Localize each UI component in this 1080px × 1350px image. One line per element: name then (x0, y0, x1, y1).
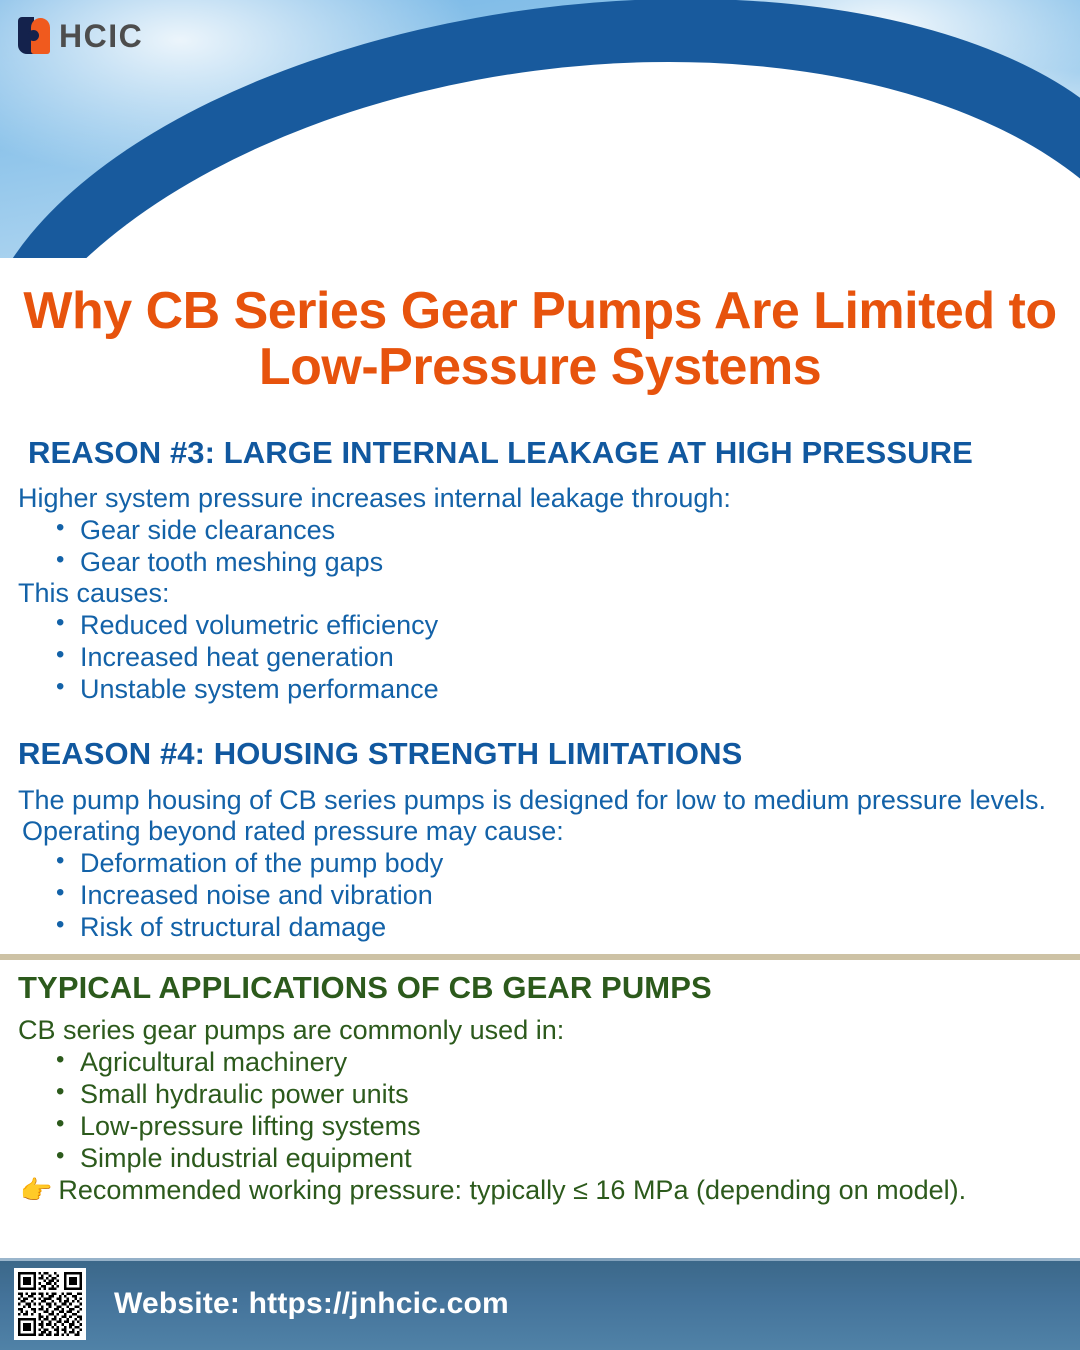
reason-4-bullet-list: Deformation of the pump body Increased n… (18, 848, 1062, 944)
website-label[interactable]: Website: https://jnhcic.com (114, 1287, 509, 1321)
list-item: Unstable system performance (54, 674, 1062, 706)
hero-banner: HCIC 華辰重工 HCIC (0, 0, 1080, 268)
section-reason-3: REASON #3: LARGE INTERNAL LEAKAGE AT HIG… (18, 435, 1062, 706)
reason-3-bullet-list-1: Gear side clearances Gear tooth meshing … (18, 515, 1062, 579)
recommended-pressure-text: Recommended working pressure: typically … (58, 1175, 966, 1207)
content-body: REASON #3: LARGE INTERNAL LEAKAGE AT HIG… (0, 435, 1080, 1206)
list-item: Low-pressure lifting systems (54, 1111, 1062, 1143)
brand-logo-wordmark: HCIC (59, 20, 143, 52)
list-item: Gear side clearances (54, 515, 1062, 547)
reason-3-lead-text-2: This causes: (18, 578, 1062, 610)
section-heading-typical-applications: TYPICAL APPLICATIONS OF CB GEAR PUMPS (18, 970, 1062, 1006)
section-heading-reason-3: REASON #3: LARGE INTERNAL LEAKAGE AT HIG… (18, 435, 1062, 471)
section-heading-reason-4: REASON #4: HOUSING STRENGTH LIMITATIONS (18, 736, 1062, 772)
list-item: Deformation of the pump body (54, 848, 1062, 880)
reason-3-lead-text: Higher system pressure increases interna… (18, 483, 1062, 515)
reason-4-lead-text-2: Operating beyond rated pressure may caus… (18, 816, 1062, 848)
pointing-right-finger-icon: 👉 (20, 1175, 52, 1206)
list-item: Gear tooth meshing gaps (54, 547, 1062, 579)
page-title: Why CB Series Gear Pumps Are Limited to … (22, 284, 1058, 395)
applications-lead-text: CB series gear pumps are commonly used i… (18, 1015, 1062, 1047)
recommended-pressure-note: 👉 Recommended working pressure: typicall… (18, 1175, 1062, 1207)
qr-code-svg (18, 1272, 82, 1336)
footer-top-edge (0, 1258, 1080, 1261)
list-item: Risk of structural damage (54, 912, 1062, 944)
hero-bottom-fill (0, 258, 1080, 268)
applications-bullet-list: Agricultural machinery Small hydraulic p… (18, 1047, 1062, 1174)
section-divider (0, 954, 1080, 960)
section-typical-applications: TYPICAL APPLICATIONS OF CB GEAR PUMPS CB… (18, 970, 1062, 1207)
list-item: Increased noise and vibration (54, 880, 1062, 912)
reason-3-bullet-list-2: Reduced volumetric efficiency Increased … (18, 610, 1062, 706)
hcic-logo-icon (18, 17, 50, 54)
footer-bar: Website: https://jnhcic.com (0, 1258, 1080, 1350)
list-item: Increased heat generation (54, 642, 1062, 674)
list-item: Agricultural machinery (54, 1047, 1062, 1079)
list-item: Small hydraulic power units (54, 1079, 1062, 1111)
list-item: Simple industrial equipment (54, 1143, 1062, 1175)
list-item: Reduced volumetric efficiency (54, 610, 1062, 642)
section-reason-4: REASON #4: HOUSING STRENGTH LIMITATIONS … (18, 736, 1062, 944)
reason-4-lead-text: The pump housing of CB series pumps is d… (18, 785, 1062, 817)
brand-logo: HCIC (18, 17, 143, 54)
qr-code-icon[interactable] (14, 1268, 86, 1340)
